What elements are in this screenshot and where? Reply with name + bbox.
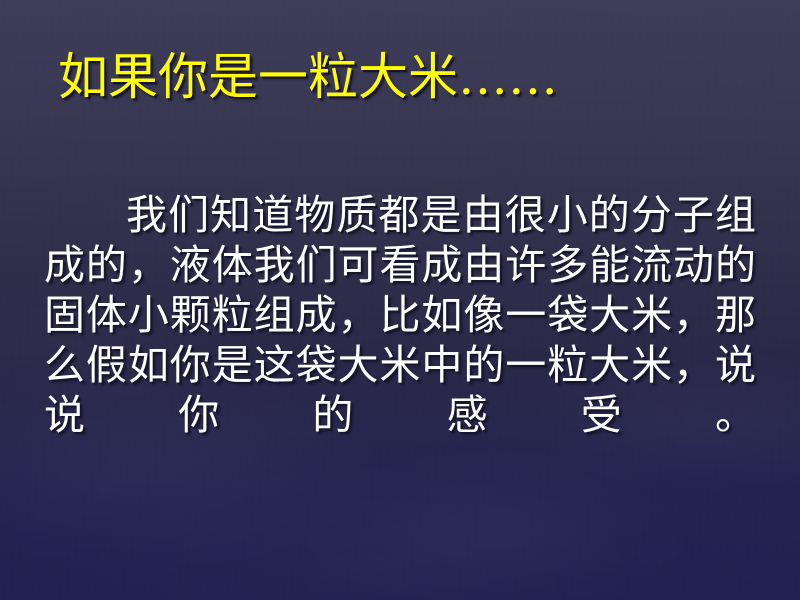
slide-body-paragraph: 我们知道物质都是由很小的分子组成的，液体我们可看成由许多能流动的固体小颗粒组成，… — [44, 190, 756, 490]
presentation-slide: 如果你是一粒大米…… 我们知道物质都是由很小的分子组成的，液体我们可看成由许多能… — [0, 0, 800, 600]
slide-title: 如果你是一粒大米…… — [58, 46, 758, 108]
